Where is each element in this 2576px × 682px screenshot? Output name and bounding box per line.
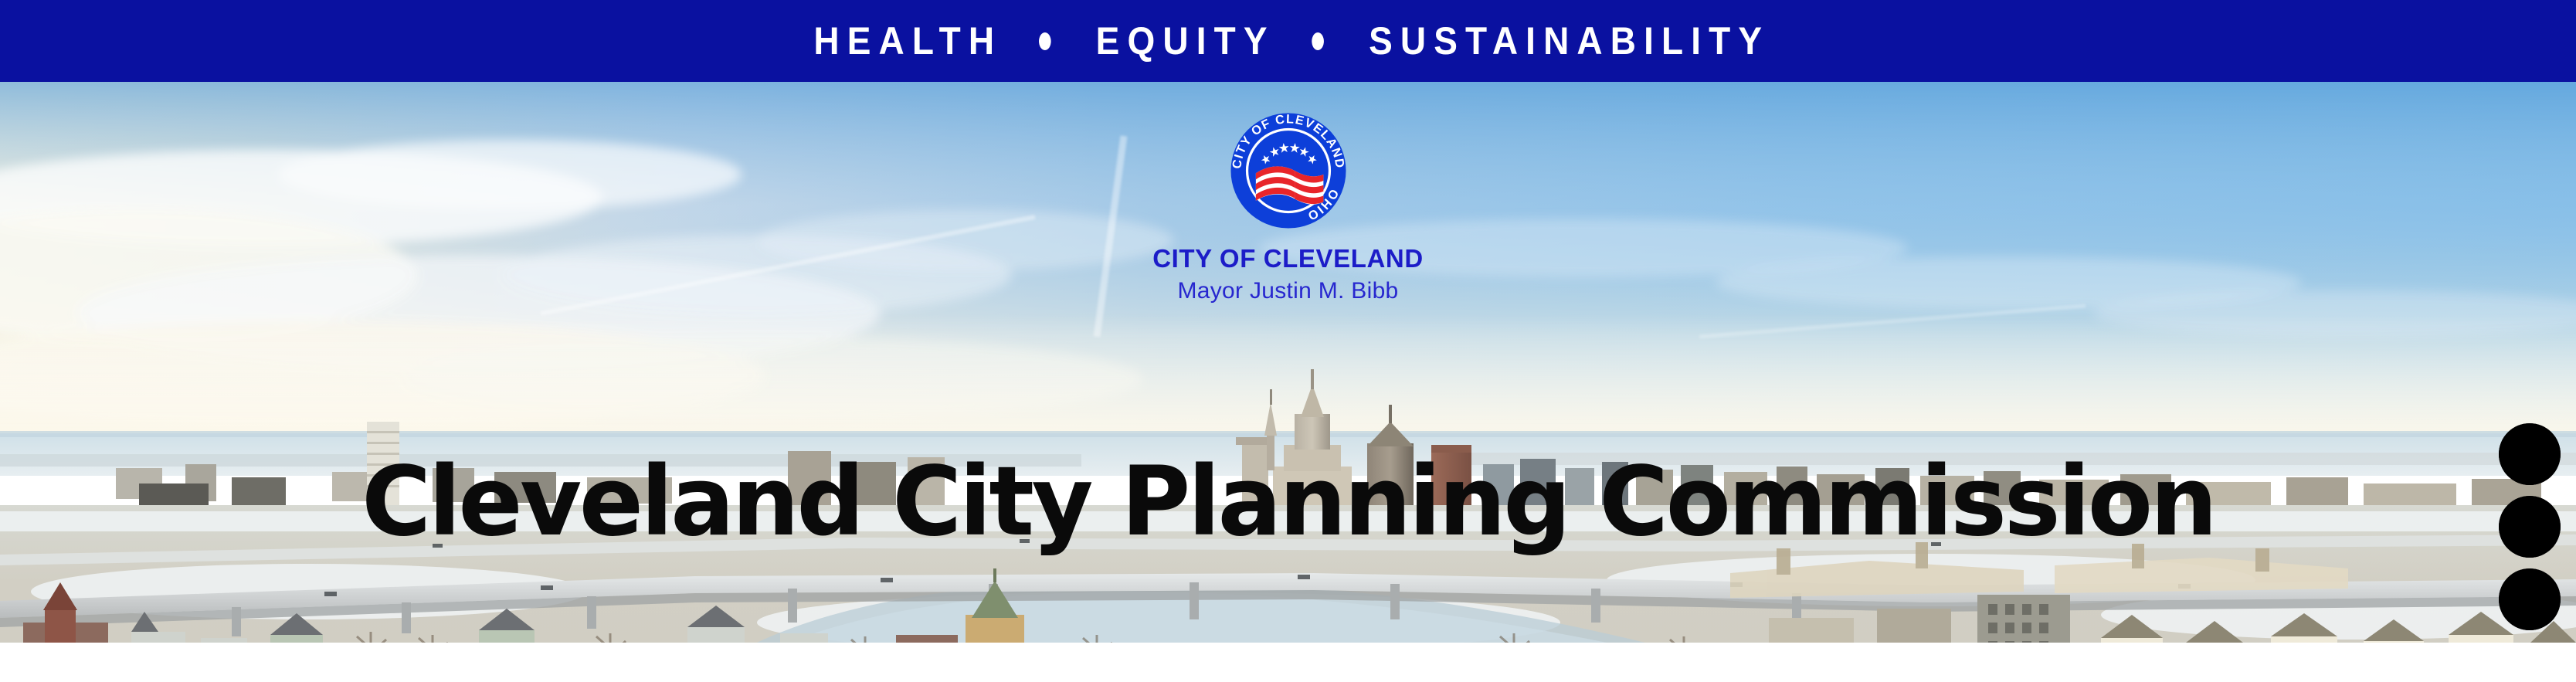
tagline-word-health: HEALTH <box>806 22 1003 60</box>
instagram-link[interactable] <box>2499 496 2561 558</box>
page-root: { "tagline_bar": { "words": ["HEALTH", "… <box>0 0 2576 682</box>
hero-photo-banner <box>0 82 2576 643</box>
tagline-bar: HEALTH EQUITY SUSTAINABILITY <box>0 0 2576 82</box>
tagline-word-equity: EQUITY <box>1088 22 1275 60</box>
youtube-icon <box>2499 423 2561 485</box>
tagline-inner: HEALTH EQUITY SUSTAINABILITY <box>806 22 1770 60</box>
cleveland-skyline-photo <box>0 82 2576 643</box>
instagram-icon <box>2499 496 2561 558</box>
social-links-rail <box>2499 423 2561 630</box>
tagline-separator-dot-1 <box>1039 32 1051 50</box>
tagline-separator-dot-2 <box>1312 32 1325 50</box>
tagline-word-sustainability: SUSTAINABILITY <box>1361 22 1770 60</box>
facebook-icon <box>2499 568 2561 630</box>
youtube-link[interactable] <box>2499 423 2561 485</box>
facebook-link[interactable] <box>2499 568 2561 630</box>
